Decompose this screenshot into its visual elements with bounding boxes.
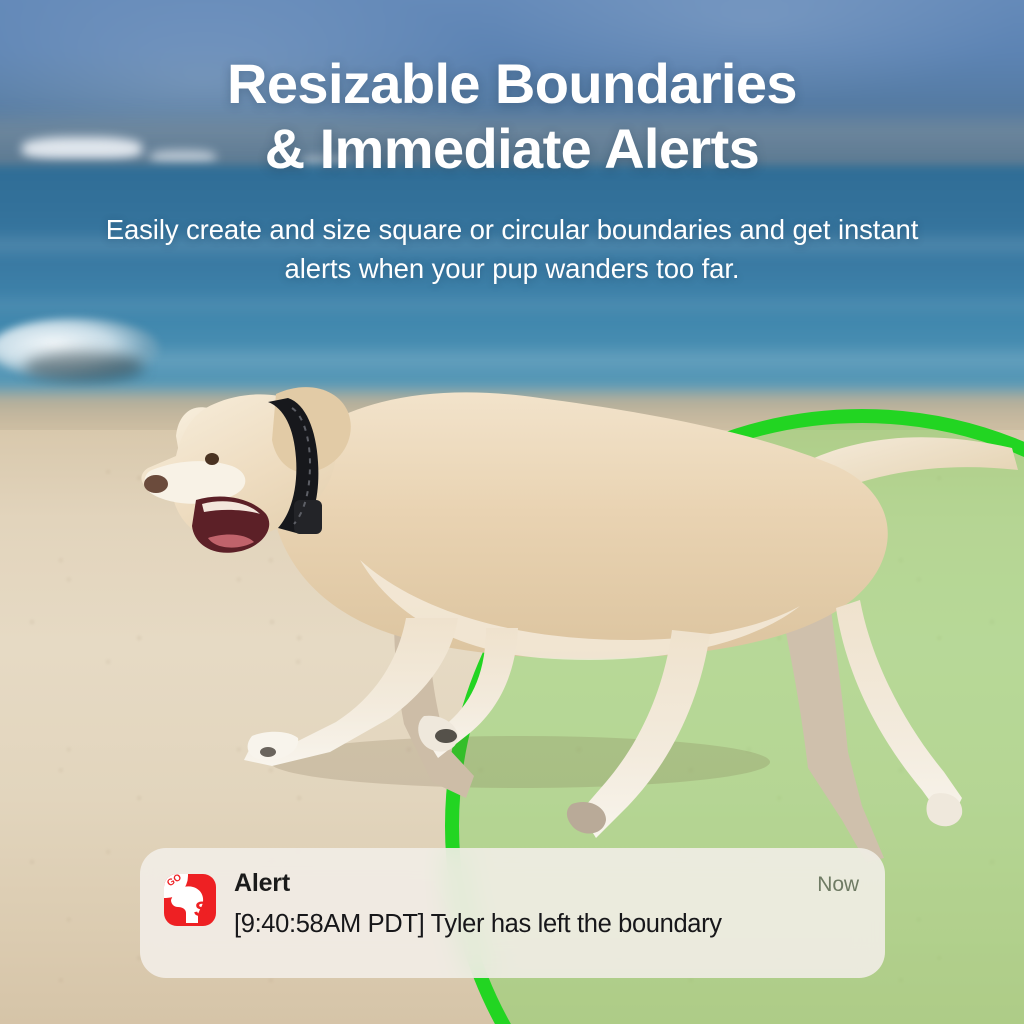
subheadline-line-2: alerts when your pup wanders too far. <box>56 249 968 288</box>
headline-line-2: & Immediate Alerts <box>40 117 984 182</box>
headline-line-1: Resizable Boundaries <box>227 52 797 115</box>
notification-header-row: Alert Now <box>234 870 859 898</box>
subheadline: Easily create and size square or circula… <box>0 210 1024 288</box>
dog-paw-pad-2 <box>435 729 457 743</box>
app-icon-s-letter: S <box>194 899 208 920</box>
notification-banner[interactable]: GO S Alert Now [9:40:58AM PDT] Tyler has… <box>140 848 885 978</box>
notification-body: Alert Now [9:40:58AM PDT] Tyler has left… <box>234 870 859 939</box>
dog-body <box>268 392 888 658</box>
notification-message: [9:40:58AM PDT] Tyler has left the bound… <box>234 909 859 940</box>
notification-title: Alert <box>234 870 290 898</box>
dog-shadow <box>270 736 770 788</box>
subheadline-line-1: Easily create and size square or circula… <box>106 214 919 245</box>
dog-rear-near-leg <box>580 630 710 838</box>
collar-tracker-device <box>294 500 322 534</box>
notification-timestamp: Now <box>817 873 859 897</box>
dog-paw-pad <box>260 747 276 757</box>
go-dog-app-icon: GO S <box>164 874 216 926</box>
product-feature-card: Resizable Boundaries & Immediate Alerts … <box>0 0 1024 1024</box>
dog-nose <box>144 475 168 493</box>
dog-eye <box>205 453 219 465</box>
headline: Resizable Boundaries & Immediate Alerts <box>0 52 1024 182</box>
